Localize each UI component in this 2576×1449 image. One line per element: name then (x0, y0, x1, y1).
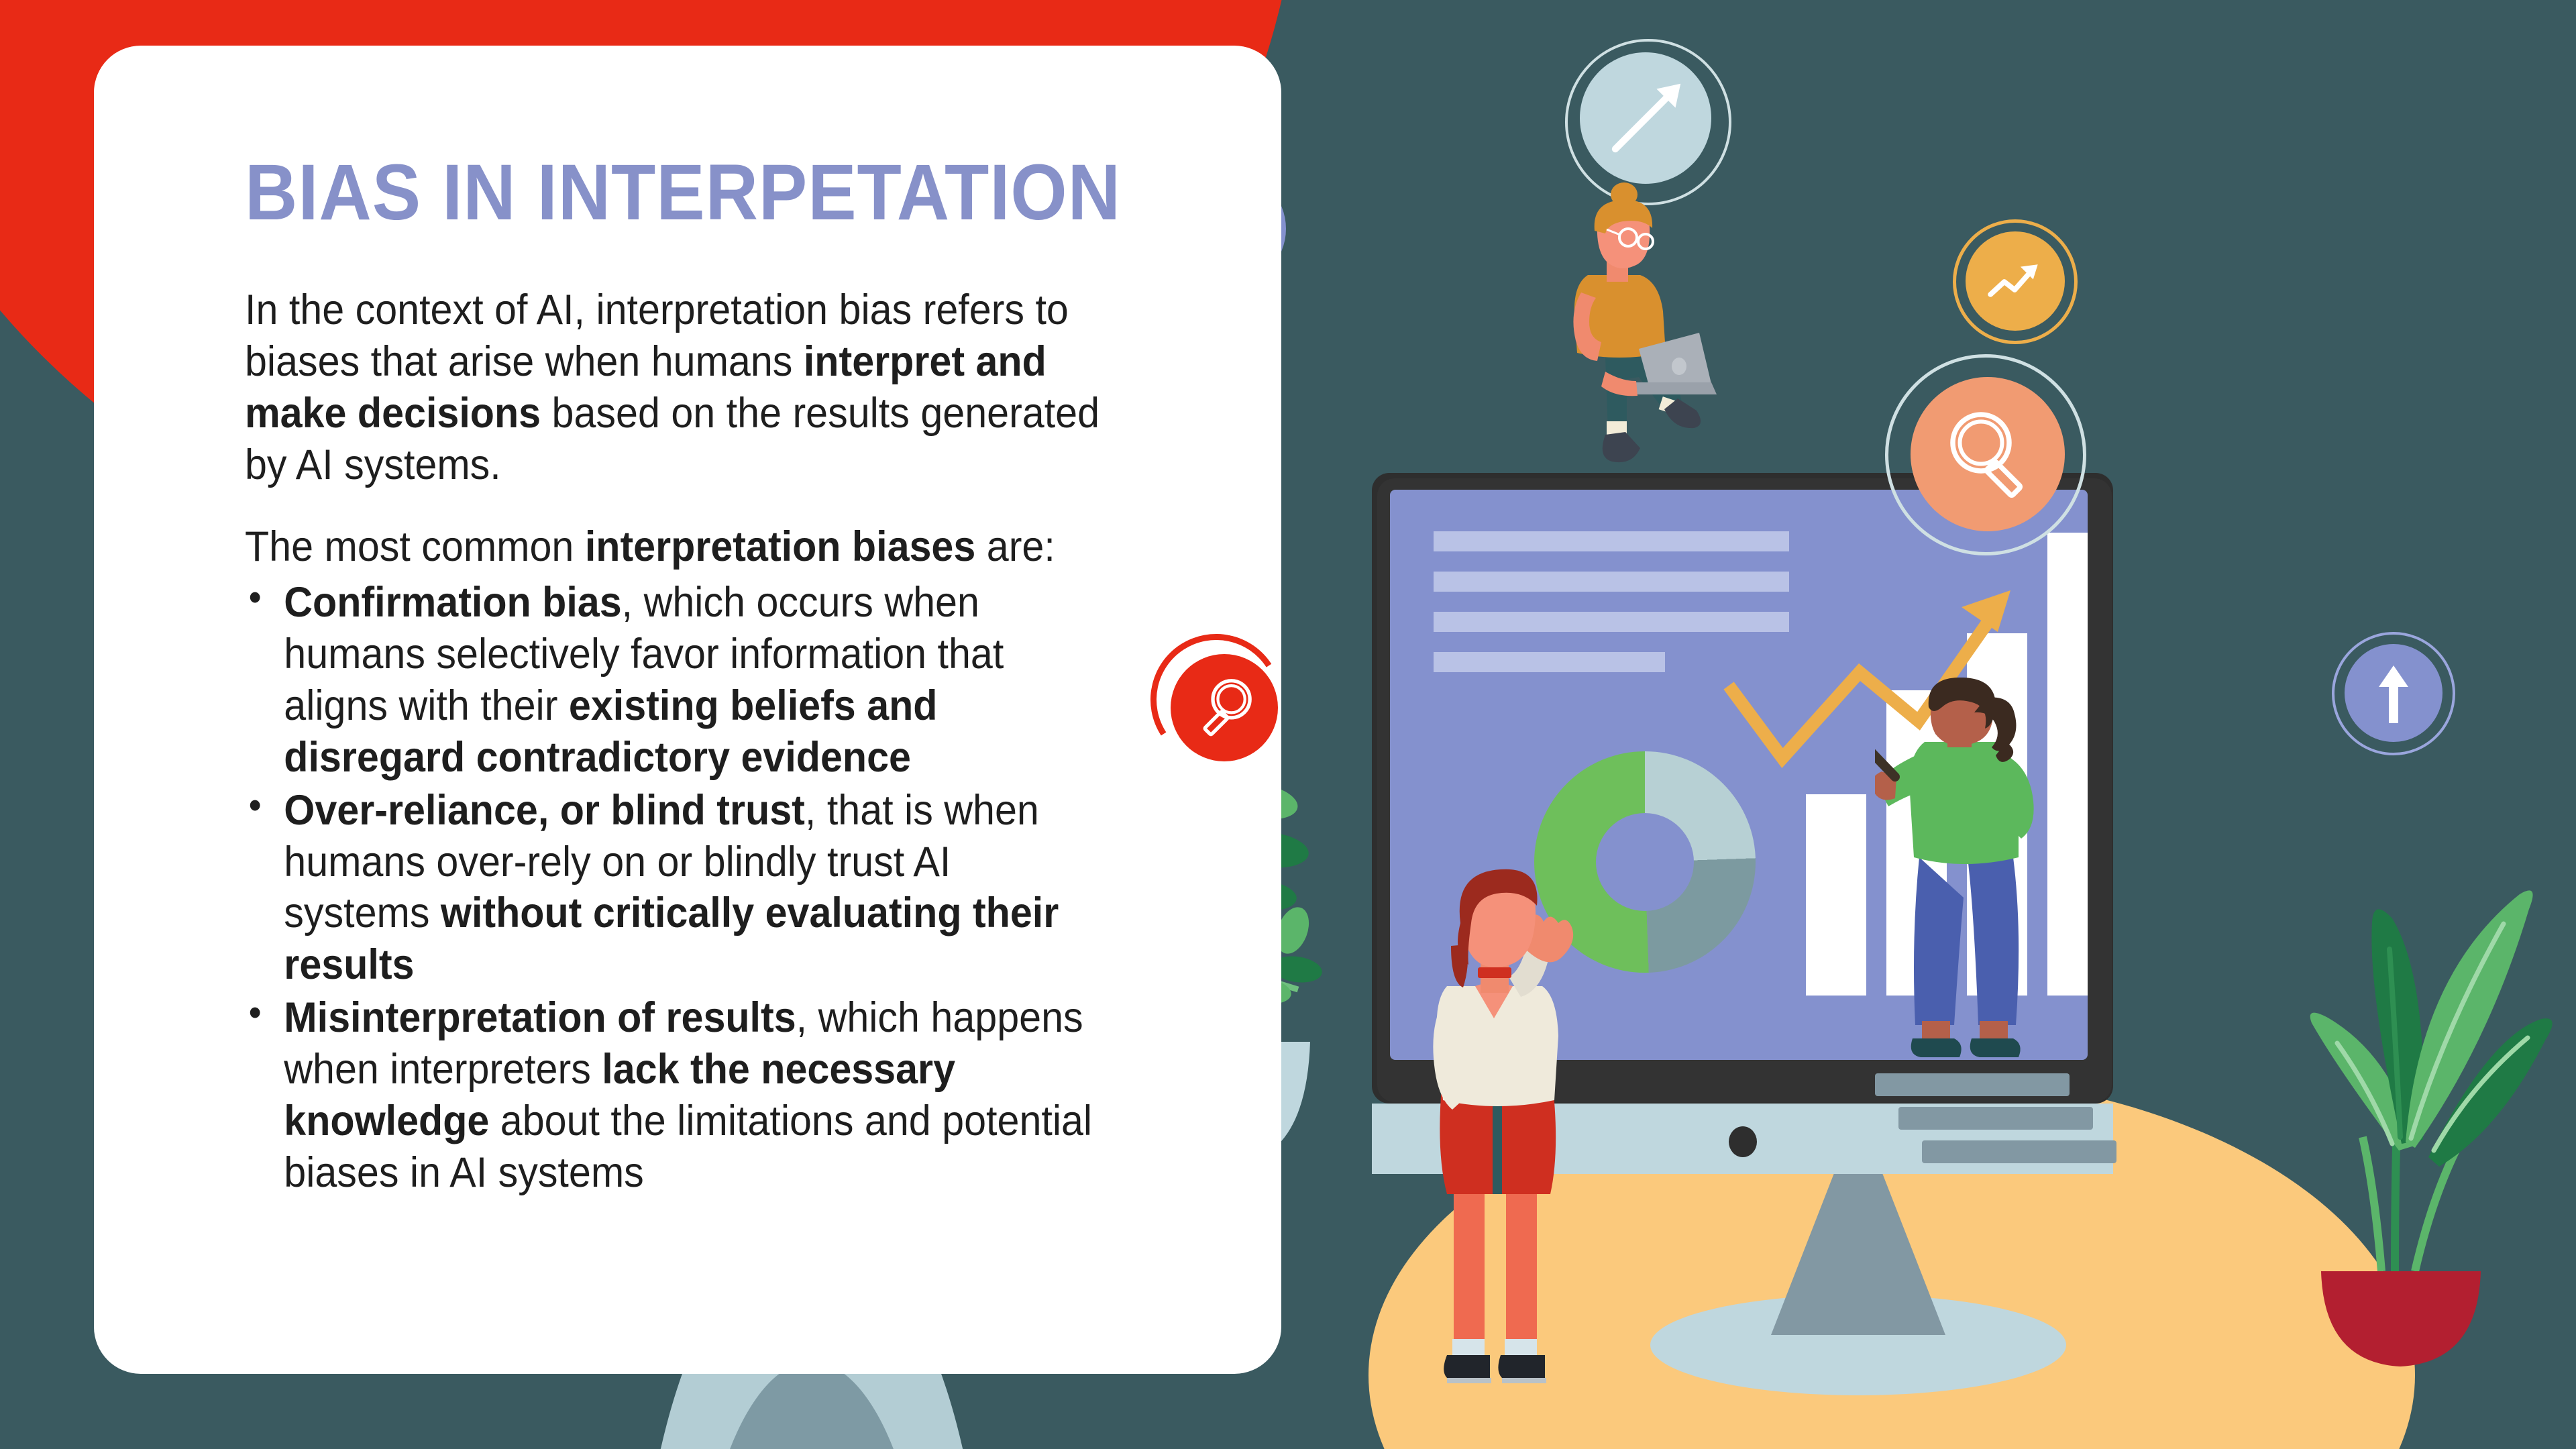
bullet-2-term: Over-reliance, or blind trust (284, 787, 805, 834)
list-item: Misinterpretation of results, which happ… (245, 992, 1106, 1198)
bullet-3-term: Misinterpretation of results (284, 994, 796, 1041)
list-item: Over-reliance, or blind trust, that is w… (245, 785, 1106, 991)
lead-in-part-1: The most common (245, 523, 585, 570)
arrow-up-right-icon (1603, 75, 1689, 161)
woman-pointing-at-donut (1405, 865, 1627, 1402)
bullet-1-term: Confirmation bias (284, 579, 621, 626)
data-analytics-illustration (1140, 0, 2576, 1449)
bias-list: Confirmation bias, which occurs when hum… (245, 577, 1161, 1198)
bullets-lead-in: The most common interpretation biases ar… (245, 521, 1106, 573)
page-title: BIAS IN INTERPETATION (245, 153, 1087, 232)
lead-in-part-3: are: (975, 523, 1055, 570)
monitor-power-dot (1729, 1126, 1757, 1157)
plant-right (2267, 842, 2576, 1449)
magnifier-icon (1939, 402, 2039, 503)
arrow-up-icon (2373, 664, 2414, 726)
lead-in-part-2-bold: interpretation biases (585, 523, 975, 570)
content-card: BIAS IN INTERPETATION In the context of … (94, 46, 1281, 1374)
intro-paragraph: In the context of AI, interpretation bia… (245, 284, 1106, 490)
slide-canvas: BIAS IN INTERPETATION In the context of … (0, 0, 2576, 1449)
woman-with-pen-at-bars (1875, 678, 2090, 1147)
trending-up-icon (1987, 256, 2045, 307)
person-on-laptop (1526, 181, 1754, 483)
magnifier-icon (1189, 672, 1260, 743)
list-item: Confirmation bias, which occurs when hum… (245, 577, 1106, 783)
